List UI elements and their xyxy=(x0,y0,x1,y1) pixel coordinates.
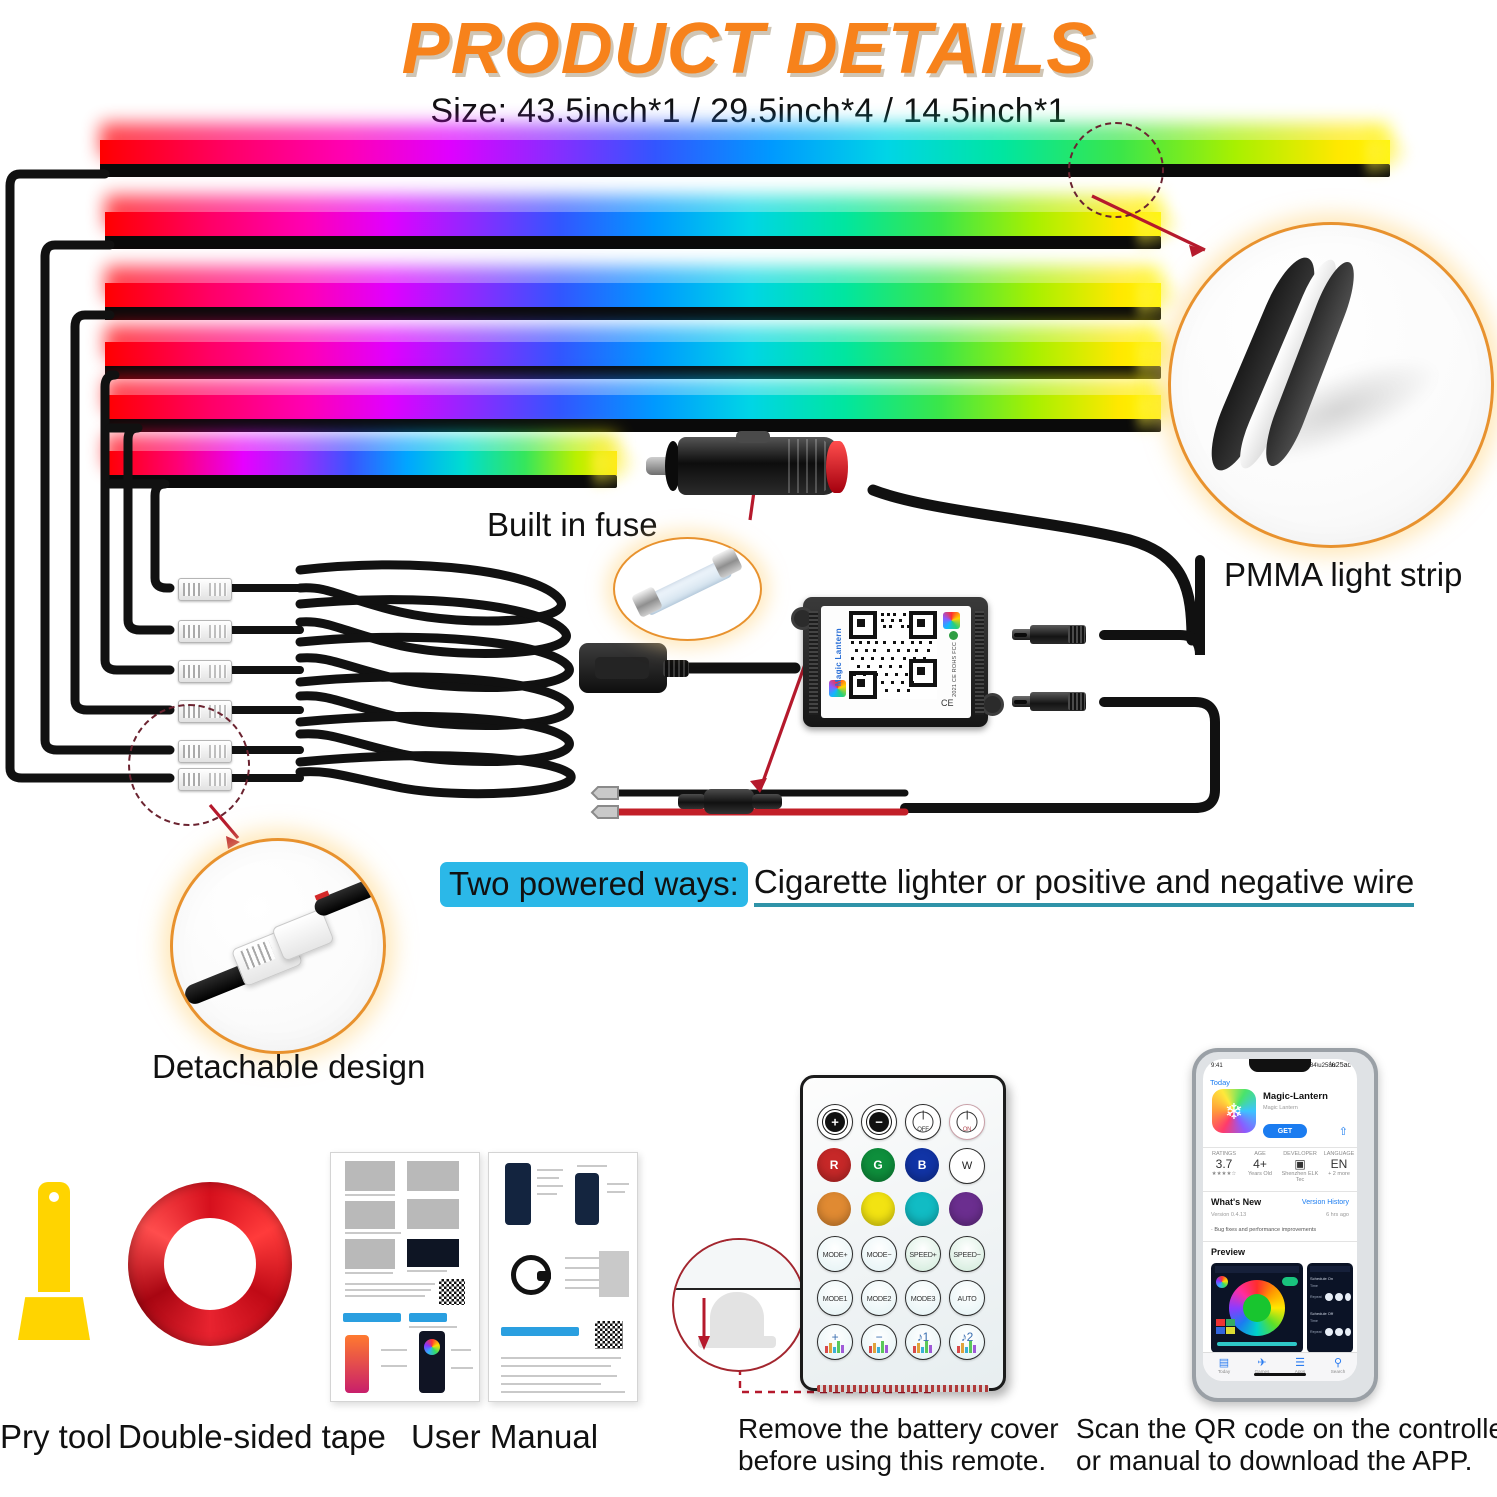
accessory-label-manual: User Manual xyxy=(411,1418,598,1456)
plug-ribs xyxy=(788,439,830,493)
power-off-button[interactable]: OFF xyxy=(905,1104,941,1140)
schedule-on-title: Schedule On xyxy=(1310,1276,1333,1281)
strip-base xyxy=(105,475,617,488)
divider xyxy=(1203,1191,1357,1192)
phone-tab-bar: ▤ Today ✈ Games ☰ Apps ⚲ Search xyxy=(1203,1352,1357,1381)
stat-value: ▣ xyxy=(1294,1157,1305,1171)
stat-sub: + 2 more xyxy=(1328,1171,1350,1177)
coil-5 xyxy=(300,716,569,761)
strip-base xyxy=(100,164,1390,177)
green-button[interactable]: G xyxy=(861,1148,895,1182)
strip-end-glow xyxy=(593,435,639,491)
dc-plug-1 xyxy=(1012,625,1104,644)
preview-screenshot-color-wheel[interactable] xyxy=(1211,1263,1303,1353)
purple-button[interactable] xyxy=(949,1192,983,1226)
smartphone-mockup: 9:41 \u2582\u2584\u2586 \u25ac Today ❄ M… xyxy=(1192,1048,1378,1402)
battery-pull-tab xyxy=(710,1292,764,1348)
tab-label: Search xyxy=(1331,1369,1346,1374)
coil-4 xyxy=(300,677,569,726)
version-age: 6 hrs ago xyxy=(1326,1212,1349,1218)
stat-sub: ★★★★☆ xyxy=(1212,1171,1237,1177)
accessory-label-pry-tool: Pry tool xyxy=(0,1418,112,1456)
stat-value: 3.7 xyxy=(1216,1157,1233,1171)
dc-plug-2 xyxy=(1012,692,1104,711)
splitter-strain-relief xyxy=(663,660,689,677)
white-button[interactable]: W xyxy=(949,1148,985,1184)
bright-down-icon: − xyxy=(869,1112,889,1132)
schedule-off-title: Schedule Off xyxy=(1310,1311,1333,1316)
ce-mark: CE xyxy=(941,698,954,708)
music-sensitivity-up-button[interactable]: + xyxy=(817,1324,853,1360)
mode-plus-button[interactable]: MODE+ xyxy=(817,1236,853,1272)
music-sensitivity-down-button[interactable]: − xyxy=(861,1324,897,1360)
app-note-line2: or manual to download the APP. xyxy=(1076,1443,1472,1479)
app-name: Magic-Lantern xyxy=(1263,1091,1328,1102)
changelog-text: · Bug fixes and performance improvements xyxy=(1211,1227,1316,1233)
speed-plus-button[interactable]: SPEED+ xyxy=(905,1236,941,1272)
cable-splitter xyxy=(579,643,667,693)
plug-red-cap xyxy=(826,441,848,493)
version-history-link[interactable]: Version History xyxy=(1302,1199,1349,1206)
phone-back-button[interactable]: Today xyxy=(1210,1078,1230,1087)
controller-mount-ear xyxy=(981,693,1004,716)
page-title: PRODUCT DETAILS xyxy=(0,8,1497,90)
strip-light xyxy=(105,342,1161,366)
phone-notch xyxy=(1249,1059,1311,1072)
ir-remote-control[interactable]: +−OFFONRGBWMODE+MODE−SPEED+SPEED−MODE1MO… xyxy=(800,1075,1006,1391)
tab-search[interactable]: ⚲ Search xyxy=(1319,1357,1357,1374)
wire-connector xyxy=(178,578,232,601)
user-manual-page-left xyxy=(330,1152,480,1402)
fuse-callout-circle xyxy=(613,537,762,641)
games-icon: ✈ xyxy=(1243,1357,1281,1369)
red-button[interactable]: R xyxy=(817,1148,851,1182)
rohs-icon xyxy=(949,631,958,640)
app-version: Version 0.4.13 xyxy=(1211,1212,1246,1218)
apps-icon: ☰ xyxy=(1281,1357,1319,1369)
eq-symbol: − xyxy=(876,1330,883,1344)
battery-pull-arrow-icon xyxy=(694,1298,716,1354)
pry-tool-hole xyxy=(49,1192,59,1202)
power-button-label: OFF xyxy=(917,1127,928,1133)
strip-light xyxy=(105,212,1161,236)
inline-fuse-holder xyxy=(678,789,782,814)
rgb-logo-icon xyxy=(943,612,960,629)
schedule-repeat-label: Repeat xyxy=(1310,1295,1322,1299)
stat-age: AGE 4+ Years Old xyxy=(1245,1151,1275,1177)
product-details-infographic: PRODUCT DETAILS Size: 43.5inch*1 / 29.5i… xyxy=(0,0,1497,1497)
eq-symbol: + xyxy=(832,1330,839,1344)
wire-2 xyxy=(45,245,170,750)
two-powered-ways-banner: Two powered ways: Cigarette lighter or p… xyxy=(440,862,1414,907)
bright-up-icon: + xyxy=(825,1112,845,1132)
detachable-focus-marker xyxy=(128,704,250,826)
battery-cover-callout xyxy=(672,1238,806,1372)
today-icon: ▤ xyxy=(1205,1357,1243,1369)
controller-cert-text: 2021 CE ROHS FCC xyxy=(952,642,958,697)
wire-6 xyxy=(110,484,170,588)
plug-button xyxy=(736,431,770,443)
wire-connector xyxy=(178,620,232,643)
brightness-down-button[interactable]: − xyxy=(861,1104,897,1140)
strip-end-glow xyxy=(1137,267,1183,323)
strip-end-glow xyxy=(1366,124,1412,180)
stat-sub: Shenzhen ELK Tec xyxy=(1282,1171,1319,1183)
strip-base xyxy=(105,419,1161,432)
orange-button[interactable] xyxy=(817,1192,851,1226)
stat-developer: DEVELOPER ▣ Shenzhen ELK Tec xyxy=(1279,1151,1321,1183)
app-icon: ❄ xyxy=(1212,1089,1256,1133)
divider xyxy=(1203,1241,1357,1242)
schedule-repeat-label-2: Repeat xyxy=(1310,1330,1322,1334)
strip-base xyxy=(105,236,1161,249)
controller-fins xyxy=(975,611,984,715)
speed-minus-button[interactable]: SPEED− xyxy=(949,1236,985,1272)
tab-apps[interactable]: ☰ Apps xyxy=(1281,1357,1319,1374)
schedule-time-label: Time xyxy=(1310,1284,1318,1288)
coil-6 xyxy=(300,756,571,794)
music-mode-2-button[interactable]: ♪2 xyxy=(949,1324,985,1360)
strip-light xyxy=(105,283,1161,307)
terminal-positive xyxy=(592,806,618,818)
eq-symbol: ♪2 xyxy=(961,1330,973,1344)
remote-note-line1: Remove the battery cover xyxy=(738,1411,1059,1447)
cigarette-lighter-plug xyxy=(640,435,875,499)
remote-ir-strip xyxy=(817,1385,989,1392)
auto-button[interactable]: AUTO xyxy=(949,1280,985,1316)
powered-ways-text: Cigarette lighter or positive and negati… xyxy=(754,863,1414,907)
eq-symbol: ♪1 xyxy=(917,1330,929,1344)
coil-3 xyxy=(300,637,569,687)
cyan-button[interactable] xyxy=(905,1192,939,1226)
mode1-button[interactable]: MODE1 xyxy=(817,1280,853,1316)
connector-shell-right xyxy=(271,908,335,962)
music-mode-1-button[interactable]: ♪1 xyxy=(905,1324,941,1360)
preview-screenshot-schedule[interactable]: Schedule On Time Repeat Schedule Off Tim… xyxy=(1307,1263,1353,1353)
power-button-label: ON xyxy=(963,1127,972,1133)
strip-light xyxy=(105,451,617,475)
arrow-pmma-head xyxy=(1189,245,1205,257)
mode2-button[interactable]: MODE2 xyxy=(861,1280,897,1316)
terminal-negative xyxy=(592,787,618,799)
blue-button[interactable]: B xyxy=(905,1148,939,1182)
qr-code xyxy=(849,611,937,699)
stat-sub: Years Old xyxy=(1248,1171,1272,1177)
controller-fins xyxy=(809,611,818,715)
schedule-time-label-2: Time xyxy=(1310,1319,1318,1323)
dc-plug-rib xyxy=(1068,693,1085,710)
double-sided-tape-roll xyxy=(128,1182,292,1346)
dc-cable-top xyxy=(1104,560,1200,655)
built-in-fuse-label: Built in fuse xyxy=(487,506,658,544)
dc-plug-rib xyxy=(1068,626,1085,643)
led-controller-box: Magic Lantern 2021 CE ROHS FCC CE xyxy=(803,597,988,727)
controller-brand: Magic Lantern xyxy=(834,628,843,686)
phone-screen: 9:41 \u2582\u2584\u2586 \u25ac Today ❄ M… xyxy=(1203,1059,1357,1381)
mode3-button[interactable]: MODE3 xyxy=(905,1280,941,1316)
pmma-focus-marker xyxy=(1068,122,1164,218)
pmma-zoom-circle xyxy=(1168,222,1494,548)
strip-light xyxy=(100,140,1390,164)
controller-label: Magic Lantern 2021 CE ROHS FCC CE xyxy=(821,606,971,718)
app-get-button[interactable]: GET xyxy=(1263,1124,1307,1138)
mode-minus-button[interactable]: MODE− xyxy=(861,1236,897,1272)
wire-connector xyxy=(178,660,232,683)
stat-value: EN xyxy=(1331,1157,1348,1171)
search-icon: ⚲ xyxy=(1319,1357,1357,1369)
strip-light xyxy=(105,395,1161,419)
powered-ways-tag: Two powered ways: xyxy=(440,862,748,907)
share-icon[interactable]: ⇧ xyxy=(1339,1125,1348,1138)
stat-value: 4+ xyxy=(1253,1157,1267,1171)
tape-roll-hole xyxy=(164,1218,256,1310)
divider xyxy=(1203,1147,1357,1148)
pmma-label: PMMA light strip xyxy=(1224,556,1462,594)
power-on-button[interactable]: ON xyxy=(949,1104,985,1140)
phone-home-indicator xyxy=(1254,1373,1306,1376)
tab-label: Today xyxy=(1218,1369,1230,1374)
yellow-button[interactable] xyxy=(861,1192,895,1226)
battery-cover-top xyxy=(674,1240,804,1288)
lotus-glyph-icon: ❄ xyxy=(1225,1099,1243,1125)
strip-base xyxy=(105,307,1161,320)
battery-cover-split-line xyxy=(674,1288,804,1290)
user-manual-page-right xyxy=(488,1152,638,1402)
whats-new-heading: What's New xyxy=(1211,1197,1261,1207)
app-note-line1: Scan the QR code on the controller xyxy=(1076,1411,1497,1447)
detachable-zoom-circle xyxy=(170,838,386,1054)
preview-heading: Preview xyxy=(1211,1247,1245,1257)
pry-tool xyxy=(18,1182,90,1342)
detachable-label: Detachable design xyxy=(152,1048,425,1086)
accessory-label-tape: Double-sided tape xyxy=(118,1418,386,1456)
brightness-up-button[interactable]: + xyxy=(817,1104,853,1140)
remote-note-line2: before using this remote. xyxy=(738,1443,1046,1479)
stat-language: LANGUAGE EN + 2 more xyxy=(1323,1151,1355,1177)
tab-games[interactable]: ✈ Games xyxy=(1243,1357,1281,1374)
coil-1 xyxy=(300,565,561,621)
stat-ratings: RATINGS 3.7 ★★★★☆ xyxy=(1207,1151,1241,1177)
tab-today[interactable]: ▤ Today xyxy=(1205,1357,1243,1374)
app-developer: Magic Lantern xyxy=(1263,1105,1298,1111)
coil-2 xyxy=(300,600,566,654)
